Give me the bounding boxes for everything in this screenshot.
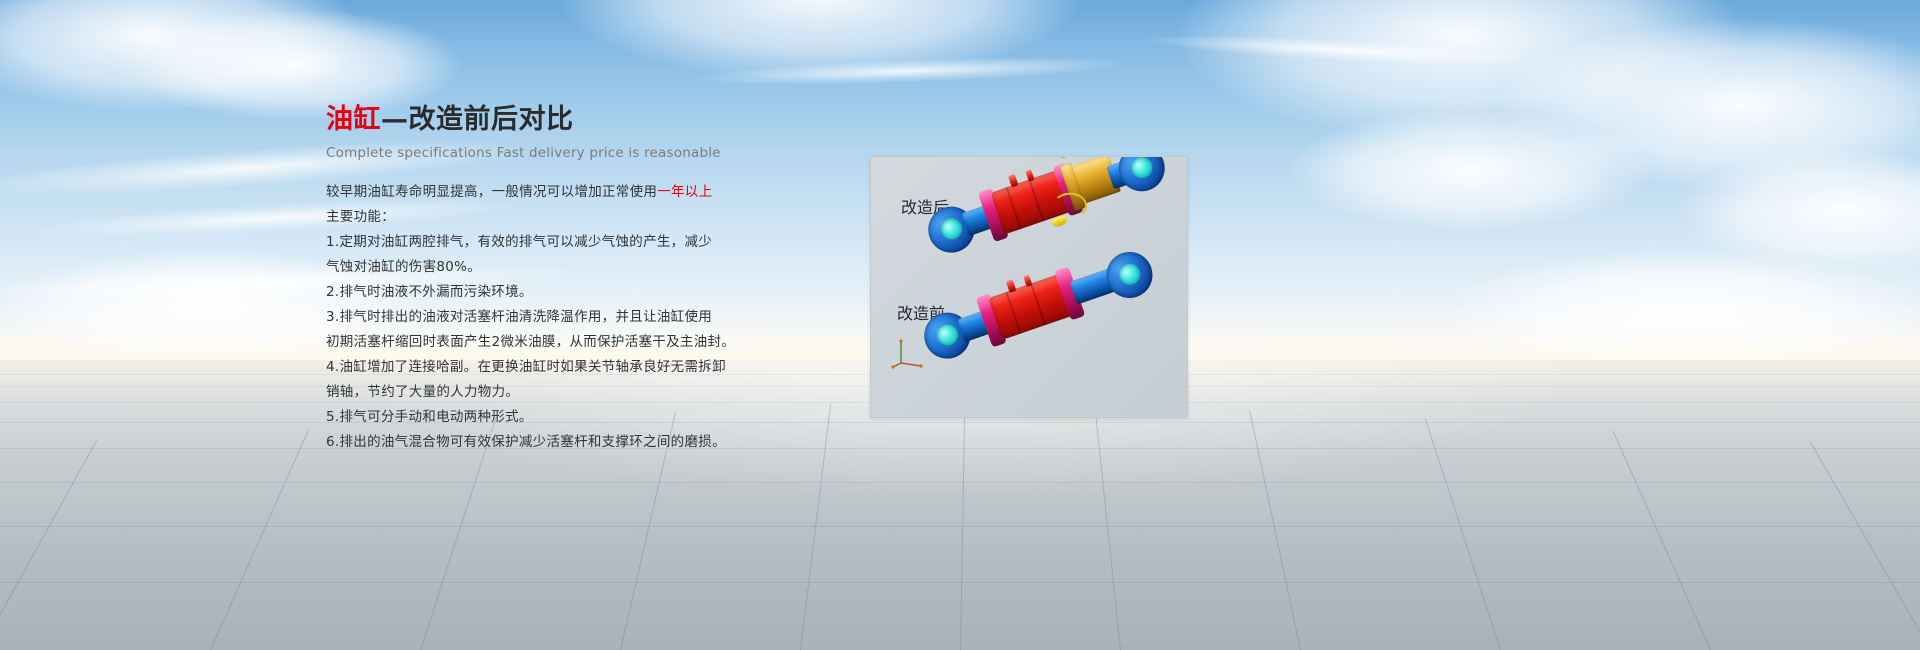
body-line-1: 较早期油缸寿命明显提高，一般情况可以增加正常使用一年以上	[326, 180, 846, 205]
ground-gridline-h	[0, 526, 1920, 527]
ground-gridline-h	[0, 582, 1920, 583]
body-line-4: 气蚀对油缸的伤害80%。	[326, 255, 846, 280]
page-subtitle: Complete specifications Fast delivery pr…	[326, 145, 846, 161]
rod-eye-right	[1100, 246, 1158, 304]
banner-copy: 油缸—改造前后对比 Complete specifications Fast d…	[326, 104, 846, 455]
page-title: 油缸—改造前后对比	[326, 104, 846, 136]
title-rest: —改造前后对比	[381, 104, 574, 135]
barrel-rib	[1028, 179, 1044, 221]
body-line-1-text: 较早期油缸寿命明显提高，一般情况可以增加正常使用	[326, 184, 657, 200]
ground-gridline-h	[0, 422, 1920, 423]
rod-eye-right	[1112, 156, 1170, 197]
body-line-10: 5.排气可分手动和电动两种形式。	[326, 405, 846, 430]
body-line-9: 销轴，节约了大量的人力物力。	[326, 380, 846, 405]
body-line-7: 初期活塞杆缩回时表面产生2微米油膜，从而保护活塞干及主油封。	[326, 330, 846, 355]
bleed-hose	[1053, 192, 1087, 219]
ground-gridline-h	[0, 482, 1920, 483]
body-line-11: 6.排出的油气混合物可有效保护减少活塞杆和支撑环之间的磨损。	[326, 430, 846, 455]
body-line-1-highlight: 一年以上	[657, 184, 712, 200]
ground-gridline-h	[0, 448, 1920, 449]
barrel-rib	[1030, 283, 1046, 325]
cad-comparison-panel: 改造后 改造前	[870, 156, 1188, 418]
body-line-5: 2.排气时油液不外漏而污染环境。	[326, 280, 846, 305]
body-line-2: 主要功能：	[326, 205, 846, 230]
title-highlight: 油缸	[326, 104, 381, 135]
banner-body-text: 较早期油缸寿命明显提高，一般情况可以增加正常使用一年以上 主要功能： 1.定期对…	[326, 180, 846, 455]
barrel-rib	[1006, 187, 1022, 229]
hero-banner: 油缸—改造前后对比 Complete specifications Fast d…	[0, 0, 1920, 650]
barrel-rib	[1005, 292, 1021, 334]
bleed-valve	[1059, 156, 1082, 159]
body-line-6: 3.排气时排出的油液对活塞杆油清洗降温作用，并且让油缸使用	[326, 305, 846, 330]
body-line-3: 1.定期对油缸两腔排气，有效的排气可以减少气蚀的产生，减少	[326, 230, 846, 255]
body-line-8: 4.油缸增加了连接哈副。在更换油缸时如果关节轴承良好无需拆卸	[326, 355, 846, 380]
